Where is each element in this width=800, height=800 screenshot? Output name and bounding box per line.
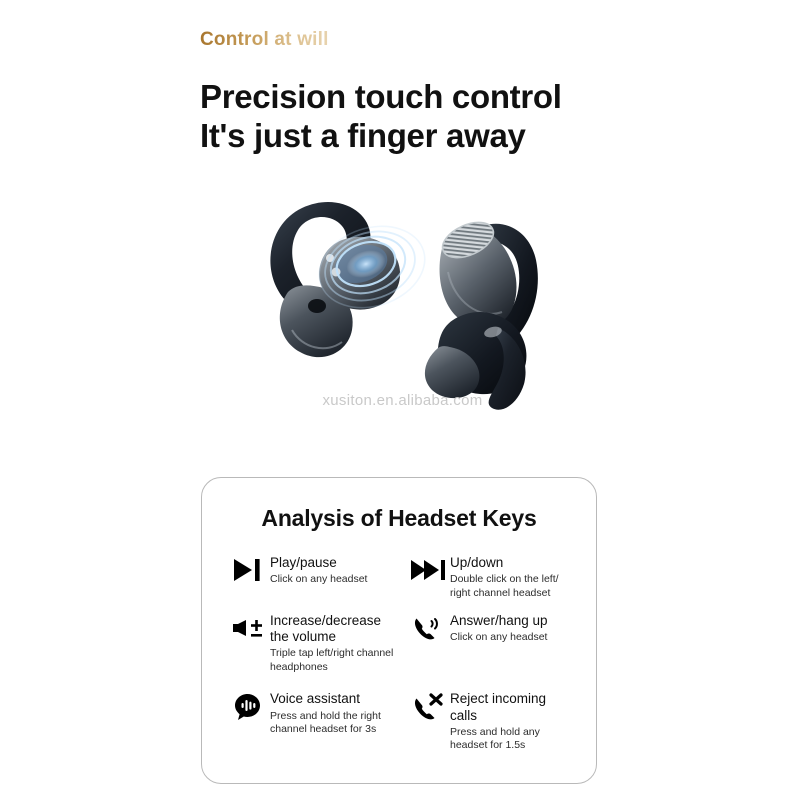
key-text: Answer/hang up Click on any headset xyxy=(450,612,548,645)
key-desc: Triple tap left/right channel headphones xyxy=(270,647,396,674)
product-marketing-page: Control at will Precision touch control … xyxy=(0,0,800,800)
key-desc: Press and hold any headset for 1.5s xyxy=(450,726,574,753)
volume-plus-minus-icon xyxy=(226,612,270,654)
product-image: xusiton.en.alibaba.com xyxy=(230,180,575,425)
keys-row: Play/pause Click on any headset Up/down xyxy=(226,554,574,600)
earbuds-illustration xyxy=(230,180,575,425)
keys-grid: Play/pause Click on any headset Up/down xyxy=(202,554,596,753)
key-title: Up/down xyxy=(450,555,574,571)
key-item-up-down: Up/down Double click on the left/ right … xyxy=(400,554,574,600)
key-title: Reject incoming calls xyxy=(450,691,574,723)
eyebrow-text: Control at will xyxy=(200,29,329,51)
key-item-volume: Increase/decrease the volume Triple tap … xyxy=(226,612,400,674)
earbud-bottom xyxy=(425,312,527,410)
voice-assistant-icon xyxy=(226,690,270,732)
key-text: Voice assistant Press and hold the right… xyxy=(270,690,396,736)
key-item-play-pause: Play/pause Click on any headset xyxy=(226,554,400,600)
headline-line-1: Precision touch control xyxy=(200,78,562,117)
play-pause-icon xyxy=(226,554,270,596)
key-desc: Double click on the left/ right channel … xyxy=(450,573,574,600)
key-desc: Click on any headset xyxy=(450,631,548,644)
key-item-voice-assistant: Voice assistant Press and hold the right… xyxy=(226,690,400,752)
key-title: Play/pause xyxy=(270,555,367,571)
key-text: Play/pause Click on any headset xyxy=(270,554,367,587)
headline-line-2: It's just a finger away xyxy=(200,117,562,156)
key-desc: Click on any headset xyxy=(270,573,367,586)
key-text: Reject incoming calls Press and hold any… xyxy=(450,690,574,752)
key-title: Answer/hang up xyxy=(450,613,548,629)
keys-row: Increase/decrease the volume Triple tap … xyxy=(226,612,574,674)
key-title: Voice assistant xyxy=(270,691,396,707)
key-text: Increase/decrease the volume Triple tap … xyxy=(270,612,396,674)
key-text: Up/down Double click on the left/ right … xyxy=(450,554,574,600)
phone-ringing-icon xyxy=(406,612,450,654)
headset-keys-panel: Analysis of Headset Keys Play/pause Clic… xyxy=(201,477,597,784)
panel-title: Analysis of Headset Keys xyxy=(202,505,596,532)
fast-forward-icon xyxy=(406,554,450,596)
key-item-reject-call: Reject incoming calls Press and hold any… xyxy=(400,690,574,752)
key-desc: Press and hold the right channel headset… xyxy=(270,710,396,737)
phone-reject-icon xyxy=(406,690,450,732)
key-title: Increase/decrease the volume xyxy=(270,613,396,645)
page-title: Precision touch control It's just a fing… xyxy=(200,78,562,156)
keys-row: Voice assistant Press and hold the right… xyxy=(226,690,574,752)
key-item-answer-hangup: Answer/hang up Click on any headset xyxy=(400,612,574,674)
